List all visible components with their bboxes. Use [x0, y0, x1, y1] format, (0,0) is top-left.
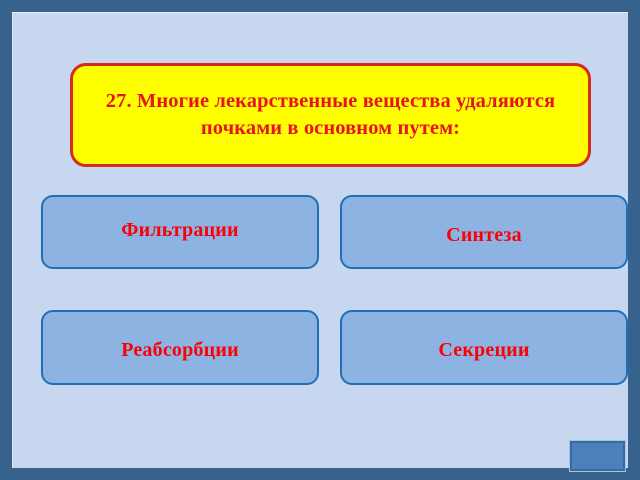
next-slide-button[interactable] [570, 441, 625, 471]
slide-canvas: 27. Многие лекарственные вещества удаляю… [12, 12, 628, 468]
quiz-slide: 27. Многие лекарственные вещества удаляю… [0, 0, 640, 480]
question-text: 27. Многие лекарственные вещества удаляю… [91, 88, 570, 141]
question-box: 27. Многие лекарственные вещества удаляю… [70, 63, 591, 167]
answer-option-1[interactable]: Фильтрации [41, 195, 319, 269]
answer-option-3[interactable]: Реабсорбции [41, 310, 319, 385]
answer-option-4[interactable]: Секреции [340, 310, 628, 385]
answer-option-1-label: Фильтрации [121, 219, 239, 242]
answer-option-3-label: Реабсорбции [121, 339, 239, 362]
answer-option-2-label: Синтеза [446, 224, 522, 247]
answer-option-2[interactable]: Синтеза [340, 195, 628, 269]
answer-option-4-label: Секреции [438, 339, 529, 362]
